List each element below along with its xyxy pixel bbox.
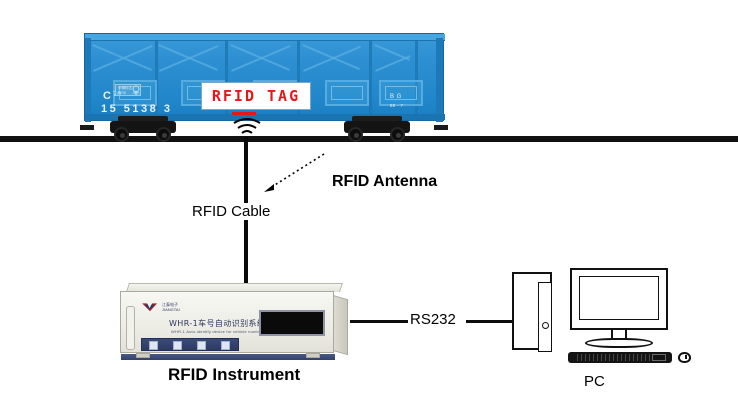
- car-brace: [375, 55, 411, 72]
- brand-line-en: JIANGTAI: [162, 307, 180, 312]
- car-wheel: [348, 127, 363, 142]
- instrument-led-fault: [221, 341, 230, 350]
- pc-keyboard-keys: [574, 354, 650, 361]
- car-bogie: [110, 119, 176, 141]
- pc-tower: [512, 272, 552, 350]
- car-right-mark: B G: [390, 94, 402, 100]
- wheel-hub: [354, 133, 359, 138]
- car-class-mark: C: [103, 90, 112, 102]
- instrument-led-power: [149, 341, 158, 350]
- car-end-right: [436, 38, 443, 122]
- car-wheel: [156, 127, 171, 142]
- pc-power-button-icon: [542, 322, 549, 329]
- instrument-led-rw: [197, 341, 206, 350]
- instrument-led-comm: [173, 341, 182, 350]
- instrument-front-panel: 江泰电子 JIANGTAI WHR-1车号自动识别系统 WHR-1 Auto-i…: [120, 291, 334, 353]
- car-info-plate: 车辆标志 RFID: [115, 84, 141, 96]
- rs232-line-right: [466, 320, 518, 323]
- rs232-line-left: [350, 320, 412, 323]
- pc-screen: [579, 276, 659, 320]
- label-rs232: RS232: [408, 311, 458, 328]
- instrument-display: [259, 310, 325, 336]
- car-end-left: [85, 38, 91, 122]
- car-panel-divider: [369, 41, 372, 116]
- instrument-side-panel: [333, 295, 348, 355]
- wheel-hub: [396, 133, 401, 138]
- pc-monitor: [570, 268, 668, 330]
- label-rfid-instrument: RFID Instrument: [168, 365, 300, 385]
- car-bogie: [344, 119, 410, 141]
- label-pc: PC: [584, 373, 605, 390]
- instrument-indicator-strip: [141, 338, 239, 351]
- pc-tower-face: [538, 282, 552, 352]
- label-rfid-antenna: RFID Antenna: [332, 173, 437, 191]
- pc-mouse: [678, 352, 691, 363]
- car-wheel: [390, 127, 405, 142]
- diagram-canvas: C 70 15 5138 3 120km/h B G 80 - 7 车辆标志 R…: [0, 0, 738, 408]
- rfid-tag-underline: [232, 112, 256, 115]
- instrument-title-en: WHR-1 Auto-identify device for vehicle n…: [171, 329, 263, 334]
- car-side-panel: [325, 80, 369, 106]
- manufacturer-brand-text: 江泰电子 JIANGTAI: [162, 303, 180, 312]
- label-rfid-cable: RFID Cable: [190, 203, 272, 220]
- car-coupler-left: [80, 125, 94, 130]
- rfid-instrument-device: 江泰电子 JIANGTAI WHR-1车号自动识别系统 WHR-1 Auto-i…: [120, 283, 348, 363]
- instrument-foot: [306, 353, 320, 358]
- car-right-submark: 80 - 7: [390, 103, 403, 108]
- car-coupler-right: [434, 125, 448, 130]
- instrument-handle: [126, 306, 135, 350]
- rfid-antenna-icon: [232, 118, 262, 138]
- wheel-hub: [162, 133, 167, 138]
- antenna-pointer-arrow: [258, 152, 326, 194]
- pc-mouse-divider: [685, 355, 687, 359]
- wheel-hub: [120, 133, 125, 138]
- manufacturer-logo-icon: [141, 302, 159, 312]
- pc-keyboard-numpad: [652, 354, 666, 361]
- pc-monitor-base: [585, 338, 653, 348]
- car-info-plate-line1: 车辆标志: [118, 86, 132, 90]
- instrument-title-cn: WHR-1车号自动识别系统: [169, 318, 265, 329]
- car-side-panel-inner: [331, 86, 363, 100]
- car-info-plate-line2: RFID: [118, 91, 126, 95]
- instrument-bottom-strip: [121, 354, 335, 360]
- pc-workstation: [512, 268, 680, 372]
- car-top-rail: [85, 34, 445, 41]
- rfid-tag-text: RFID TAG: [212, 87, 300, 105]
- pc-keyboard: [568, 352, 672, 363]
- car-wheel: [114, 127, 129, 142]
- instrument-foot: [136, 353, 150, 358]
- rfid-tag-callout: RFID TAG: [201, 82, 311, 110]
